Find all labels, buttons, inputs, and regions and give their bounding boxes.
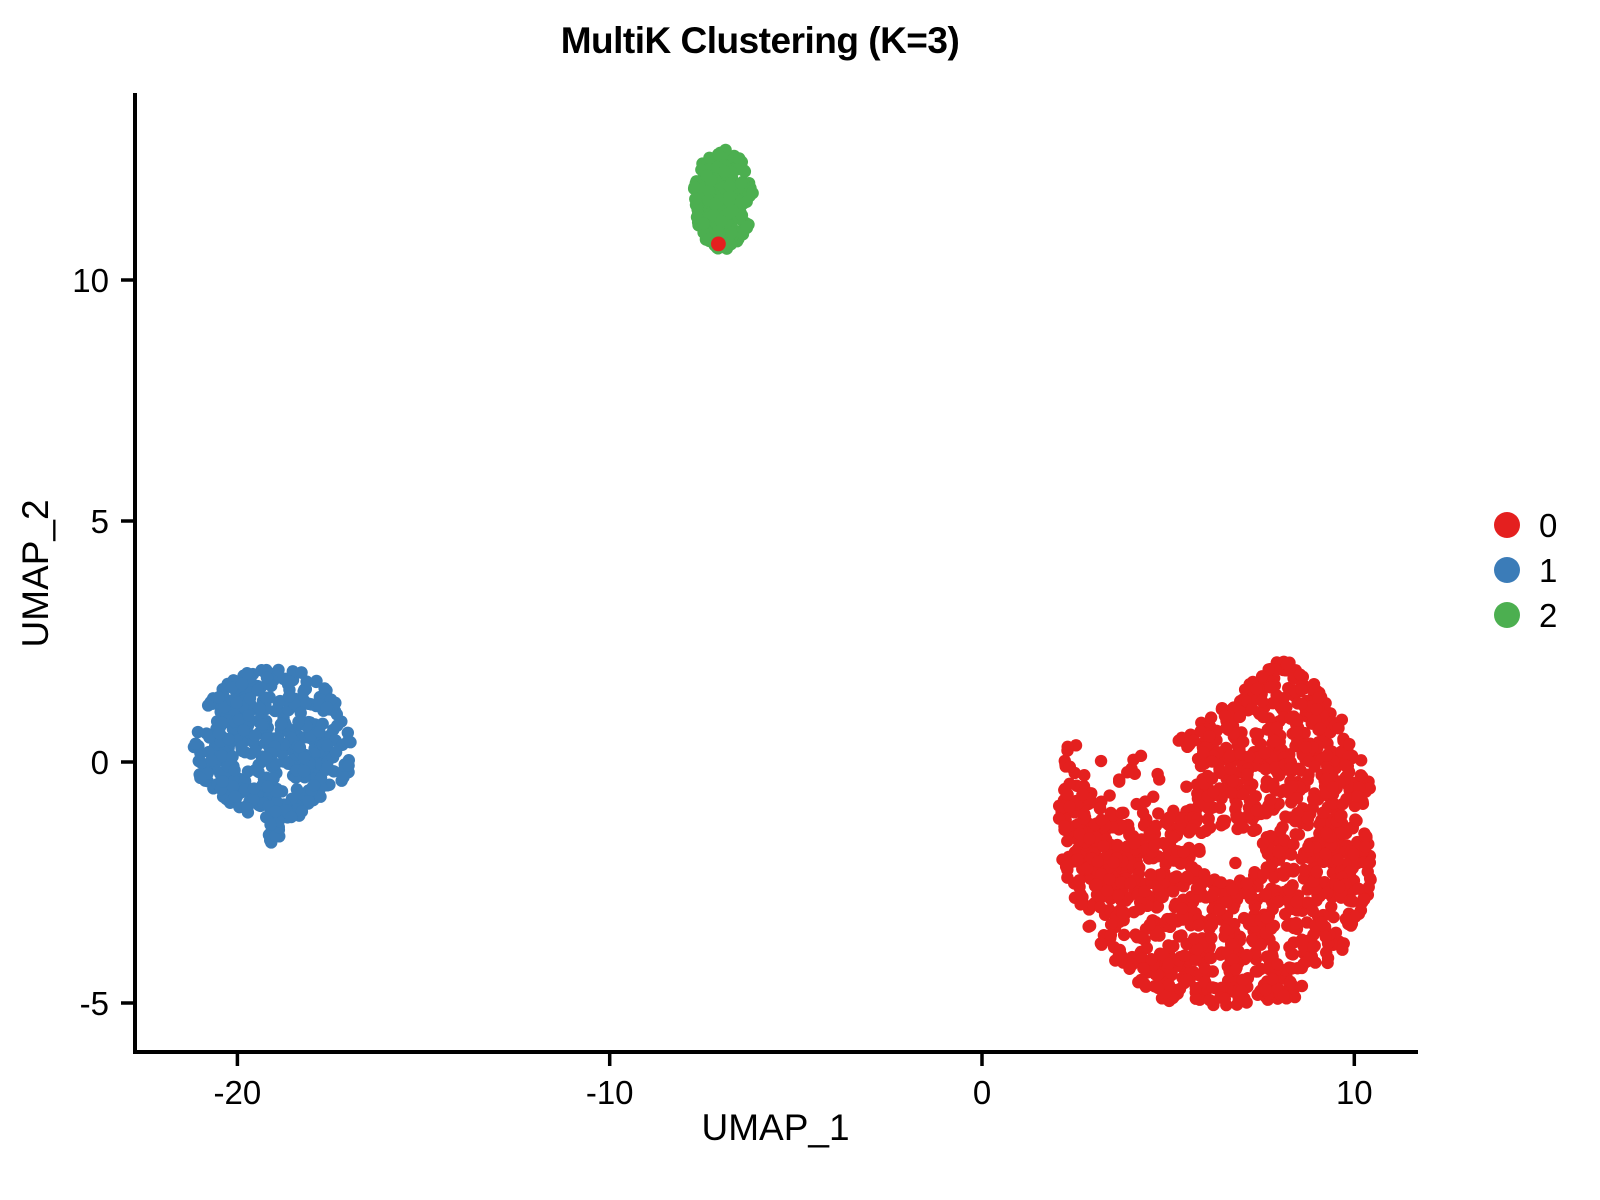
scatter-plot: -20-10010-50510UMAP_1UMAP_2 012 (0, 0, 1600, 1200)
legend-label-2[interactable]: 2 (1539, 597, 1557, 634)
x-axis-tick-label: 10 (1336, 1074, 1373, 1111)
legend-label-0[interactable]: 0 (1539, 507, 1557, 544)
x-axis-tick-label: 0 (973, 1074, 991, 1111)
cluster-1-points (188, 664, 357, 849)
data-points-layer (188, 144, 1377, 1012)
cluster-0-outlier-point (711, 236, 726, 251)
x-axis-tick-label: -10 (586, 1074, 634, 1111)
x-axis-title: UMAP_1 (701, 1107, 849, 1148)
legend-marker-2[interactable] (1494, 602, 1520, 628)
y-axis-tick-label: -5 (80, 985, 109, 1022)
legend-marker-0[interactable] (1494, 512, 1520, 538)
y-axis-title: UMAP_2 (15, 499, 56, 647)
x-axis-tick-label: -20 (214, 1074, 262, 1111)
cluster-0-points (1053, 656, 1377, 1012)
legend-label-1[interactable]: 1 (1539, 552, 1557, 589)
y-axis-tick-label: 5 (91, 503, 109, 540)
cluster-2-points (688, 144, 759, 255)
legend-marker-1[interactable] (1494, 557, 1520, 583)
chart-page: MultiK Clustering (K=3) -20-10010-50510U… (0, 0, 1600, 1200)
y-axis-tick-label: 0 (91, 744, 109, 781)
chart-legend: 012 (1494, 507, 1557, 634)
y-axis-tick-label: 10 (72, 262, 109, 299)
